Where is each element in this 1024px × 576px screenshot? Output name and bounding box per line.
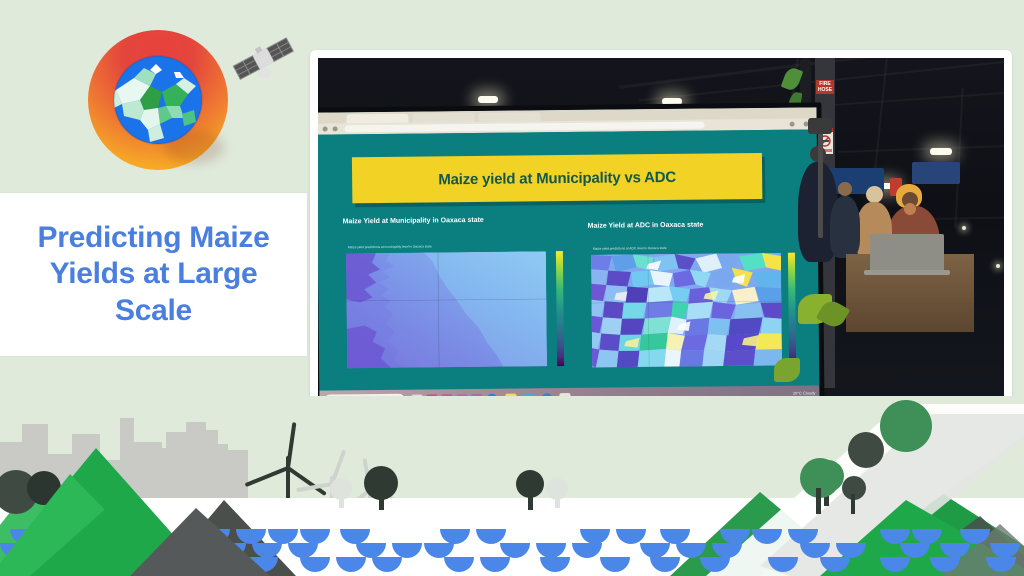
audience-area bbox=[794, 58, 1004, 442]
tree-trunk bbox=[816, 488, 821, 514]
browser-back-icon[interactable] bbox=[323, 127, 328, 132]
tree-dark bbox=[848, 432, 884, 468]
tree-crown bbox=[546, 478, 568, 500]
ceiling-light bbox=[478, 96, 498, 103]
tree-light bbox=[546, 478, 568, 508]
slide-banner: Maize yield at Municipality vs ADC bbox=[352, 153, 762, 203]
camera-tripod bbox=[818, 128, 823, 238]
page-title: Predicting Maize Yields at Large Scale bbox=[0, 220, 307, 330]
tree-dark bbox=[364, 466, 398, 510]
tree-light bbox=[330, 478, 352, 508]
map-adc-svg bbox=[590, 253, 781, 368]
browser-tab[interactable] bbox=[478, 112, 540, 122]
tree-trunk bbox=[379, 494, 384, 510]
tree-trunk bbox=[528, 496, 533, 510]
browser-tab[interactable] bbox=[412, 113, 474, 123]
map-caption-adc: Maize yield predictions at ADC level in … bbox=[593, 246, 667, 251]
photo-frame: FIREHOSE X28 bbox=[310, 50, 1012, 450]
earth-globe-logo bbox=[88, 30, 228, 170]
laptop bbox=[870, 234, 944, 272]
camera-body bbox=[808, 118, 832, 134]
tree-green bbox=[880, 400, 932, 452]
projected-screen: Maize yield at Municipality vs ADC Maize… bbox=[318, 107, 820, 412]
satellite-icon bbox=[228, 24, 300, 96]
panel-subtitle-municipality: Maize Yield at Municipality in Oaxaca st… bbox=[343, 217, 484, 225]
map-adc bbox=[590, 253, 781, 368]
tree-dark bbox=[516, 470, 544, 510]
presentation-slide: Maize yield at Municipality vs ADC Maize… bbox=[318, 129, 819, 390]
tree-crown bbox=[516, 470, 544, 498]
decorative-plant bbox=[774, 358, 800, 382]
globe-icon bbox=[110, 52, 206, 148]
browser-window: Maize yield at Municipality vs ADC Maize… bbox=[318, 107, 820, 412]
map-caption-municipality: Maize yield predictions at municipality … bbox=[348, 245, 432, 250]
map-municipality-svg bbox=[345, 251, 546, 368]
person-head bbox=[838, 182, 852, 196]
browser-reload-icon[interactable] bbox=[333, 126, 338, 131]
slide-canvas: Predicting Maize Yields at Large Scale bbox=[0, 0, 1024, 576]
laptop-base bbox=[864, 270, 950, 275]
person-head bbox=[866, 186, 883, 203]
booth-banner bbox=[912, 162, 960, 184]
tree-trunk bbox=[555, 498, 560, 508]
conference-presentation-photo: FIREHOSE X28 bbox=[318, 58, 1004, 442]
person-audience bbox=[830, 196, 860, 258]
person-head bbox=[904, 203, 916, 215]
panel-subtitle-adc: Maize Yield at ADC in Oaxaca state bbox=[588, 221, 704, 229]
browser-tab[interactable] bbox=[346, 114, 408, 124]
title-card: Predicting Maize Yields at Large Scale bbox=[0, 193, 307, 356]
colorbar-municipality bbox=[555, 251, 563, 366]
foreground-hills bbox=[0, 456, 300, 576]
map-municipality bbox=[345, 251, 546, 368]
tree-trunk bbox=[851, 494, 855, 514]
tree-crown bbox=[330, 478, 352, 500]
slide-banner-title: Maize yield at Municipality vs ADC bbox=[438, 168, 676, 187]
tree-trunk bbox=[339, 498, 344, 508]
